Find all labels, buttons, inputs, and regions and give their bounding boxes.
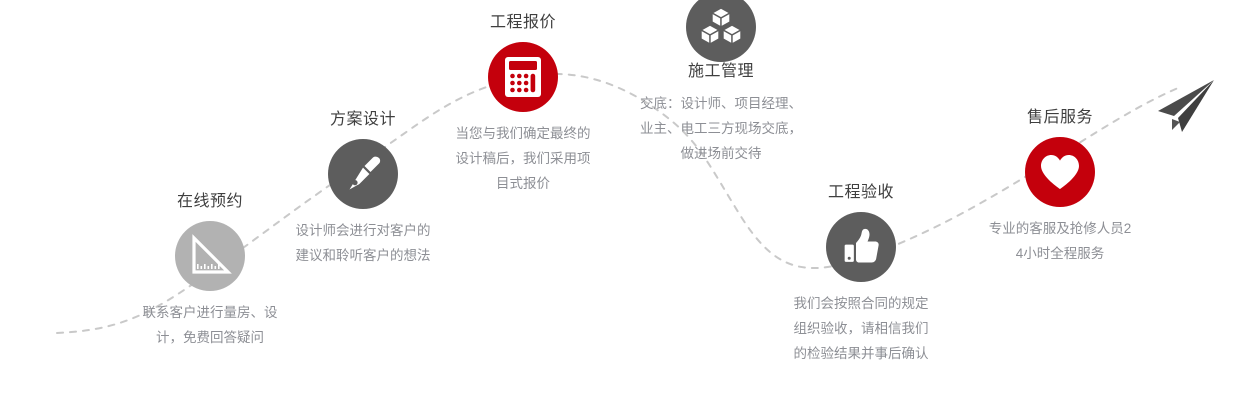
thumbs-up-icon bbox=[840, 226, 882, 268]
step-icon-circle bbox=[175, 221, 245, 291]
set-square-ruler-icon bbox=[188, 234, 232, 278]
step-title: 工程验收 bbox=[766, 183, 956, 203]
step-icon-circle bbox=[1025, 137, 1095, 207]
step-title: 施工管理 bbox=[626, 62, 816, 82]
process-flow-diagram: 在线预约 联系客户进行量房、设计，免费回答疑问 bbox=[0, 0, 1245, 402]
process-step-6[interactable]: 售后服务 专业的客服及抢修人员24小时全程服务 bbox=[965, 108, 1155, 266]
step-icon-circle bbox=[826, 212, 896, 282]
step-description: 专业的客服及抢修人员24小时全程服务 bbox=[987, 216, 1133, 266]
heart-icon bbox=[1039, 153, 1081, 191]
step-description: 当您与我们确定最终的设计稿后，我们采用项目式报价 bbox=[454, 121, 592, 196]
step-icon-circle bbox=[488, 42, 558, 112]
step-icon-circle bbox=[686, 0, 756, 62]
calculator-icon bbox=[503, 56, 543, 98]
process-step-5[interactable]: 工程验收 我们会按照合同的规定组织验收，请相信我们的检验结果并事后确认 bbox=[766, 183, 956, 366]
process-step-3[interactable]: 工程报价 bbox=[428, 13, 618, 196]
step-icon-circle bbox=[328, 139, 398, 209]
step-description: 交底：设计师、项目经理、业主、电工三方现场交底，做进场前交待 bbox=[636, 91, 806, 166]
stacked-cubes-icon bbox=[699, 6, 743, 48]
step-title: 工程报价 bbox=[428, 13, 618, 33]
fountain-pen-nib-icon bbox=[342, 153, 384, 195]
step-description: 联系客户进行量房、设计，免费回答疑问 bbox=[141, 300, 279, 350]
paper-plane-icon bbox=[1148, 78, 1218, 140]
step-description: 我们会按照合同的规定组织验收，请相信我们的检验结果并事后确认 bbox=[792, 291, 930, 366]
process-step-4[interactable]: 交底：设计师、项目经理、业主、电工三方现场交底，做进场前交待 施工管理 bbox=[626, 88, 816, 166]
step-title: 售后服务 bbox=[965, 108, 1155, 128]
step-description: 设计师会进行对客户的建议和聆听客户的想法 bbox=[294, 218, 432, 268]
